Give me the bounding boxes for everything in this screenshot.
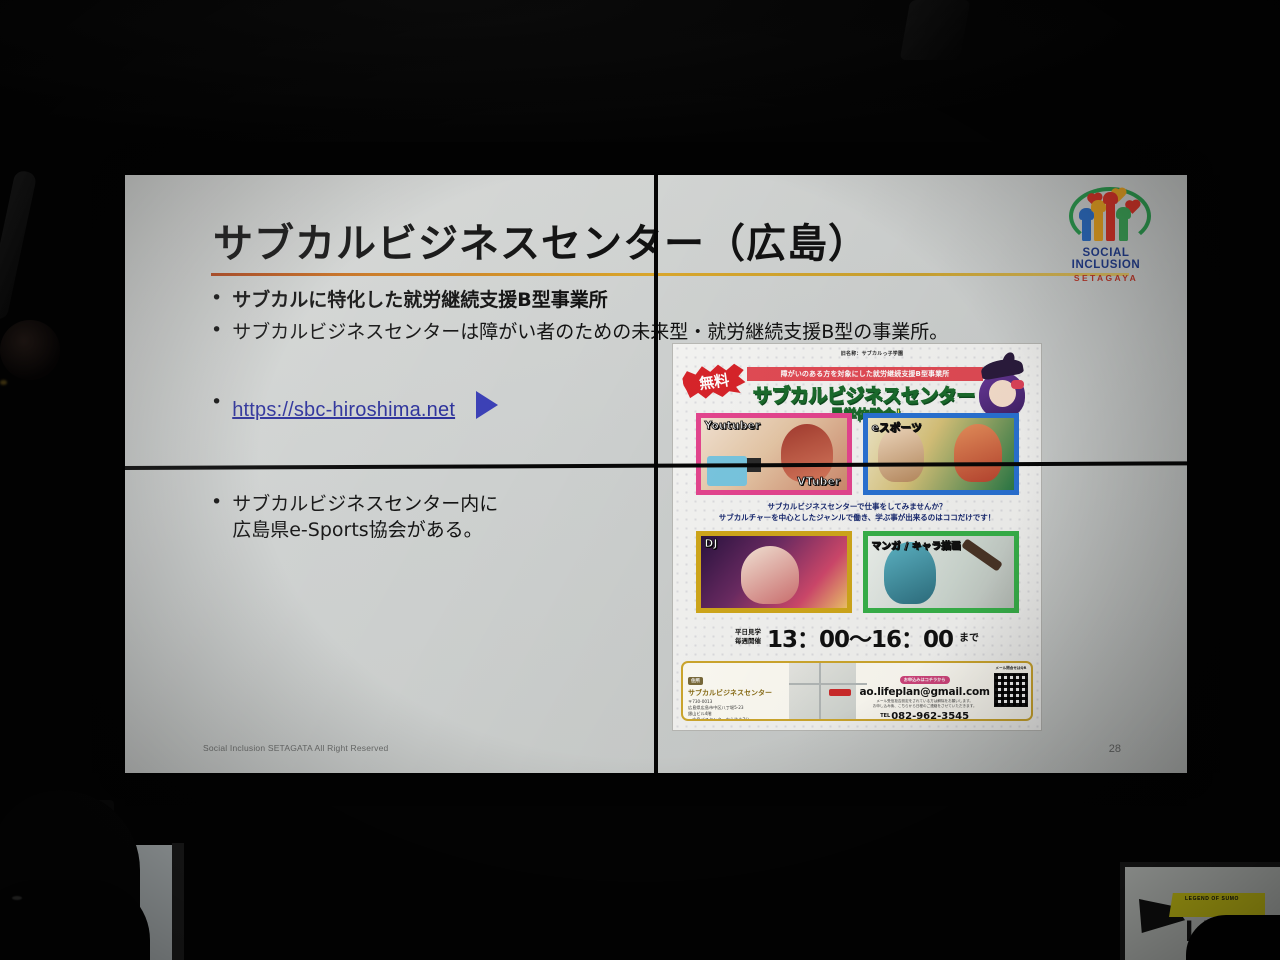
poster-former-name: 旧名称：サブカルっ子学園	[711, 350, 1033, 357]
video-wall-display: サブカルビジネスセンター（広島） • サブカルに特化した就労継続支援B型事業所 …	[125, 175, 1187, 773]
qr-code-icon	[994, 673, 1028, 707]
boom-arm	[0, 169, 37, 320]
title-underline-rule	[211, 273, 1129, 276]
hand-icon	[1106, 199, 1115, 241]
category-label: eスポーツ	[872, 420, 922, 435]
tel-label: TEL	[880, 713, 890, 719]
panel-frame	[172, 843, 184, 960]
map-marker-icon	[829, 689, 851, 696]
schedule-tag: 平日見学 毎週開催	[735, 628, 761, 644]
category-label: マンガ / キャラ描画	[872, 538, 961, 552]
qr-tag: メール問合せはQR	[994, 666, 1028, 671]
bullet-item-2: • サブカルビジネスセンターは障がい者のための未来型・就労継続支援B型の事業所。	[211, 319, 948, 345]
poster-category-row-2: DJ マンガ / キャラ描画	[681, 531, 1033, 613]
contact-mail-note: メール受信拒否設定をされている方は解除をお願いします。 お申し込み後、こちらから…	[860, 699, 990, 709]
hand-icon	[1119, 214, 1128, 241]
contact-address: 〒730-0013 広島県広島市中区八丁堀5-23 銀山ビル4階 ・広島バスセン…	[688, 699, 784, 721]
play-triangle-icon[interactable]	[476, 391, 498, 419]
bullet-item-link[interactable]: • https://sbc-hiroshima.net	[211, 391, 498, 422]
contact-mail-block: お申込みはコチラから ao.lifeplan@gmail.com メール受信拒否…	[856, 663, 994, 719]
video-wall-vertical-seam	[654, 175, 658, 773]
social-inclusion-logo: SOCIAL INCLUSION SETAGAYA	[1047, 187, 1165, 283]
video-wall-screen: サブカルビジネスセンター（広島） • サブカルに特化した就労継続支援B型事業所 …	[125, 175, 1187, 773]
slide-footer-copyright: Social Inclusion SETAGATA All Right Rese…	[203, 743, 389, 753]
poster-subheadline: 障がいのある方を対象にした就労継続支援B型事業所	[747, 367, 983, 381]
contact-email: ao.lifeplan@gmail.com	[860, 686, 990, 698]
category-label: Youtuber	[705, 420, 761, 432]
poster-copy: サブカルビジネスセンターで仕事をしてみませんか？ サブカルチャーを中心としたジャ…	[681, 501, 1033, 524]
category-card-youtuber: Youtuber VTuber	[696, 413, 852, 495]
poster-category-row-1: Youtuber VTuber eスポーツ	[681, 413, 1033, 495]
bullet-text: サブカルに特化した就労継続支援B型事業所	[232, 287, 607, 313]
logo-banner-text: LEGEND OF SUMO	[1185, 896, 1239, 902]
poster-copy-line-1: サブカルビジネスセンターで仕事をしてみませんか？	[681, 501, 1033, 512]
dark-conference-room: サブカルビジネスセンター（広島） • サブカルに特化した就労継続支援B型事業所 …	[0, 0, 1280, 960]
contact-name: サブカルビジネスセンター	[688, 688, 784, 698]
poster-copy-line-2: サブカルチャーを中心としたジャンルで働き、学ぶ事が出来るのはココだけです！	[681, 512, 1033, 523]
logo-title: SOCIAL INCLUSION	[1047, 247, 1165, 271]
link-wrap: https://sbc-hiroshima.net	[232, 391, 498, 422]
hand-icon	[1082, 215, 1091, 241]
category-card-dj: DJ	[696, 531, 852, 613]
poster-content: 旧名称：サブカルっ子学園 無料 障がいのある方を対象にした就労継続支援B型事業所…	[673, 344, 1041, 727]
bullet-dot: •	[211, 319, 222, 343]
poster-schedule: 平日見学 毎週開催 13：00～16：00 まで	[681, 620, 1033, 654]
free-badge: 無料	[681, 360, 747, 402]
category-label: DJ	[705, 538, 718, 550]
address-tag: 住所	[688, 677, 703, 685]
witch-bow	[1011, 380, 1024, 389]
bullet-item-1: • サブカルに特化した就労継続支援B型事業所	[211, 287, 608, 313]
slide-page-number: 28	[1109, 743, 1121, 755]
qr-block: メール問合せはQR	[994, 663, 1031, 719]
lighting-rig-bracket	[900, 0, 971, 60]
poster-header: 無料 障がいのある方を対象にした就労継続支援B型事業所 サブカルビジネスセンター…	[681, 358, 1033, 406]
logo-subtitle: SETAGAYA	[1047, 273, 1165, 283]
boom-microphone-head	[0, 320, 60, 380]
category-label-secondary: VTuber	[797, 476, 840, 488]
contact-address-block: 住所 サブカルビジネスセンター 〒730-0013 広島県広島市中区八丁堀5-2…	[683, 663, 789, 719]
contact-tel-line: TEL082-962-3545	[860, 711, 990, 721]
schedule-suffix: まで	[959, 629, 979, 644]
bullet-dot: •	[211, 287, 222, 311]
category-illustration	[701, 536, 847, 608]
sbc-hiroshima-link[interactable]: https://sbc-hiroshima.net	[232, 399, 455, 421]
equipment-glint	[0, 380, 7, 385]
contact-tel: 082-962-3545	[891, 711, 969, 721]
bullet-text: サブカルビジネスセンター内に 広島県e-Sports協会がある。	[232, 491, 498, 543]
poster-image: 旧名称：サブカルっ子学園 無料 障がいのある方を対象にした就労継続支援B型事業所…	[672, 343, 1042, 731]
ceiling-light-haze	[0, 0, 1280, 170]
map-icon	[789, 663, 856, 719]
witch-girl-icon	[971, 358, 1033, 420]
category-card-manga: マンガ / キャラ描画	[863, 531, 1019, 613]
poster-contact-box: 住所 サブカルビジネスセンター 〒730-0013 広島県広島市中区八丁堀5-2…	[681, 661, 1033, 721]
hand-icon	[1094, 207, 1103, 241]
bullet-dot: •	[211, 491, 222, 515]
schedule-time: 13：00～16：00	[767, 620, 953, 654]
bullet-text: サブカルビジネスセンターは障がい者のための未来型・就労継続支援B型の事業所。	[232, 319, 948, 345]
chair-highlight	[12, 896, 22, 900]
bullet-item-3: • サブカルビジネスセンター内に 広島県e-Sports協会がある。	[211, 491, 498, 543]
mail-tag: お申込みはコチラから	[900, 676, 950, 684]
bullet-dot: •	[211, 391, 222, 415]
raised-hands-icon	[1060, 187, 1152, 245]
page-title: サブカルビジネスセンター（広島）	[213, 211, 869, 269]
category-card-esports: eスポーツ	[863, 413, 1019, 495]
